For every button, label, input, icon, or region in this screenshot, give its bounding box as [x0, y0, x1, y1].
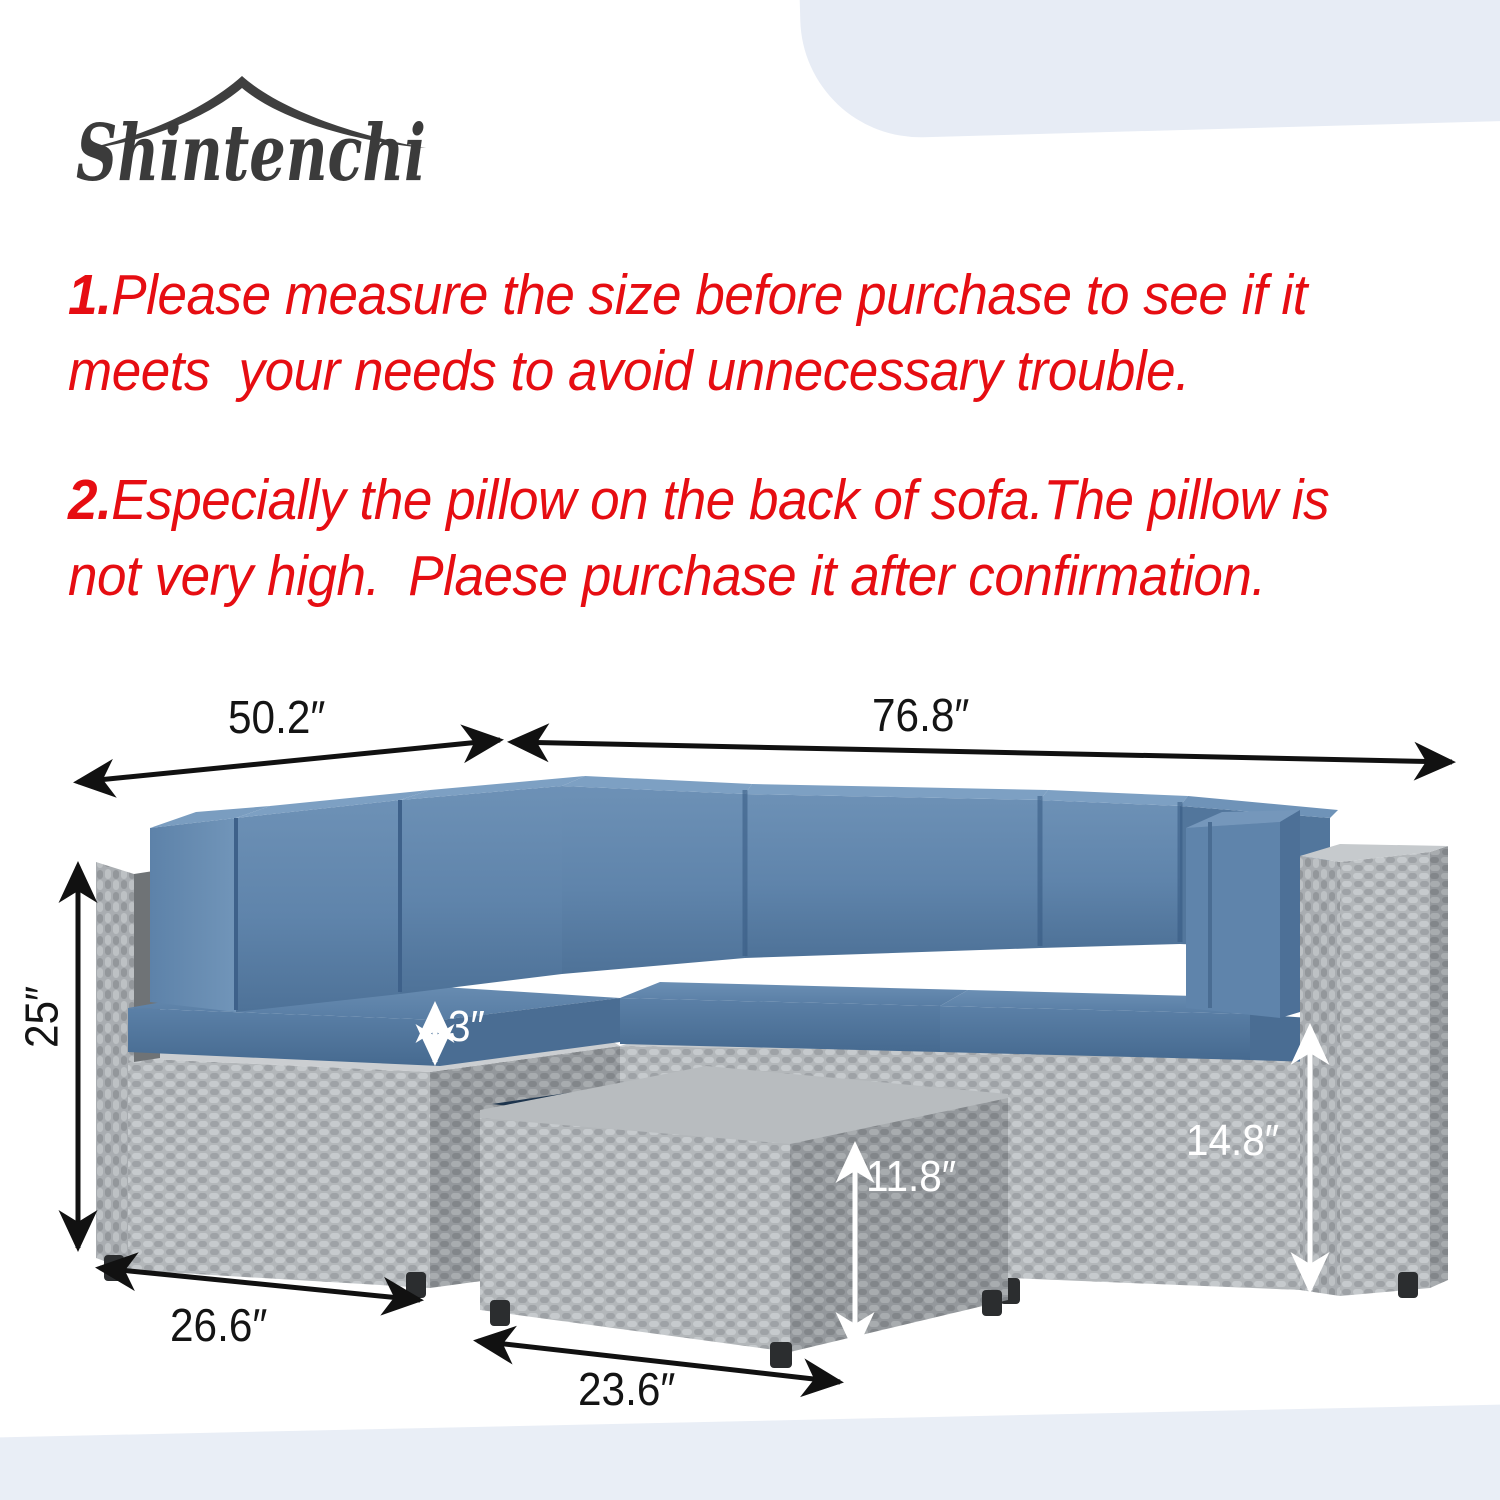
dimension-label-sofa-depth-left: 50.2″ — [228, 690, 325, 744]
dimension-label-cushion-thickness: 3″ — [448, 1002, 485, 1052]
bolster-pillow-right — [1186, 822, 1280, 1018]
back-cushion-1 — [562, 786, 745, 974]
bolster-pillow-right-side — [1280, 810, 1300, 1018]
corner-sofa-arm-endcap — [96, 1048, 128, 1270]
table-foot — [982, 1290, 1002, 1316]
back-cushion-2 — [745, 794, 1040, 958]
dimension-label-table-width: 23.6″ — [578, 1362, 675, 1416]
dimension-label-table-height: 11.8″ — [866, 1152, 956, 1202]
infographic-canvas: Shintenchi 1.Please measure the size bef… — [0, 0, 1500, 1500]
back-cushion-3 — [1040, 800, 1180, 948]
back-cushion-left-2 — [236, 800, 400, 1012]
dimension-label-seat-height: 14.8″ — [1186, 1116, 1279, 1166]
back-cushion-left-3 — [400, 786, 562, 994]
armrest-front-face — [1340, 852, 1430, 1296]
armrest-side-face — [1430, 846, 1448, 1288]
sofa-foot — [1398, 1272, 1418, 1298]
dimension-label-overall-height: 25″ — [15, 986, 69, 1048]
seat-cushion-2-face — [940, 1006, 1250, 1060]
table-foot — [490, 1300, 510, 1326]
table-foot — [770, 1342, 792, 1368]
back-cushion-left-1 — [150, 818, 236, 1012]
sofa-module-armrest-right — [1300, 844, 1448, 1298]
dimension-label-corner-seat-depth: 26.6″ — [170, 1298, 267, 1352]
sofa-foot — [104, 1255, 124, 1281]
coffee-table — [480, 1066, 1008, 1368]
seat-cushion-1-face — [620, 998, 940, 1052]
product-illustration — [0, 0, 1500, 1500]
sofa-foot — [406, 1272, 426, 1298]
table-face-front-left — [480, 1118, 790, 1352]
armrest-inner-face — [1300, 856, 1340, 1296]
corner-sofa-base-front — [128, 1058, 430, 1288]
dimension-label-sofa-width-right: 76.8″ — [872, 688, 969, 742]
